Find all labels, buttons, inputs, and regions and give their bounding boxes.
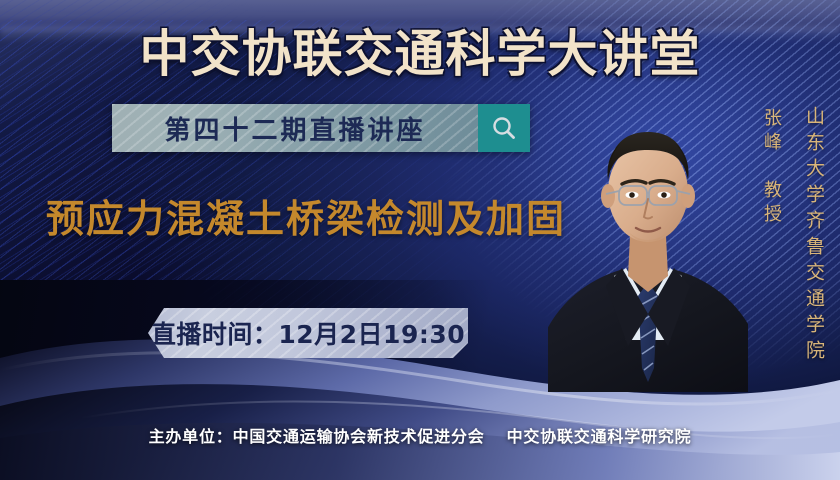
episode-label-wrap: 第四十二期直播讲座 bbox=[112, 104, 478, 152]
speaker-organization: 山东大学齐鲁交通学院 bbox=[801, 106, 828, 366]
footer-organizer: 主办单位：中国交通运输协会新技术促进分会 bbox=[149, 427, 485, 446]
livestream-time-label: 直播时间：12月2日19:30 bbox=[151, 315, 465, 351]
search-icon bbox=[490, 114, 518, 142]
page-title: 中交协联交通科学大讲堂 bbox=[0, 14, 840, 86]
footer: 主办单位：中国交通运输协会新技术促进分会中交协联交通科学研究院 bbox=[0, 423, 840, 447]
speaker-photo bbox=[548, 100, 748, 392]
speaker-name-title: 张峰 教授 bbox=[758, 108, 784, 228]
livestream-time-badge: 直播时间：12月2日19:30 bbox=[148, 308, 468, 358]
episode-bar: 第四十二期直播讲座 bbox=[112, 104, 530, 152]
footer-institute: 中交协联交通科学研究院 bbox=[507, 427, 692, 446]
livestream-poster: 中交协联交通科学大讲堂 第四十二期直播讲座 预应力混凝土桥梁检测及加固 直播时间… bbox=[0, 0, 840, 480]
search-button[interactable] bbox=[478, 104, 530, 152]
lecture-topic: 预应力混凝土桥梁检测及加固 bbox=[46, 188, 566, 243]
episode-label: 第四十二期直播讲座 bbox=[164, 110, 425, 147]
